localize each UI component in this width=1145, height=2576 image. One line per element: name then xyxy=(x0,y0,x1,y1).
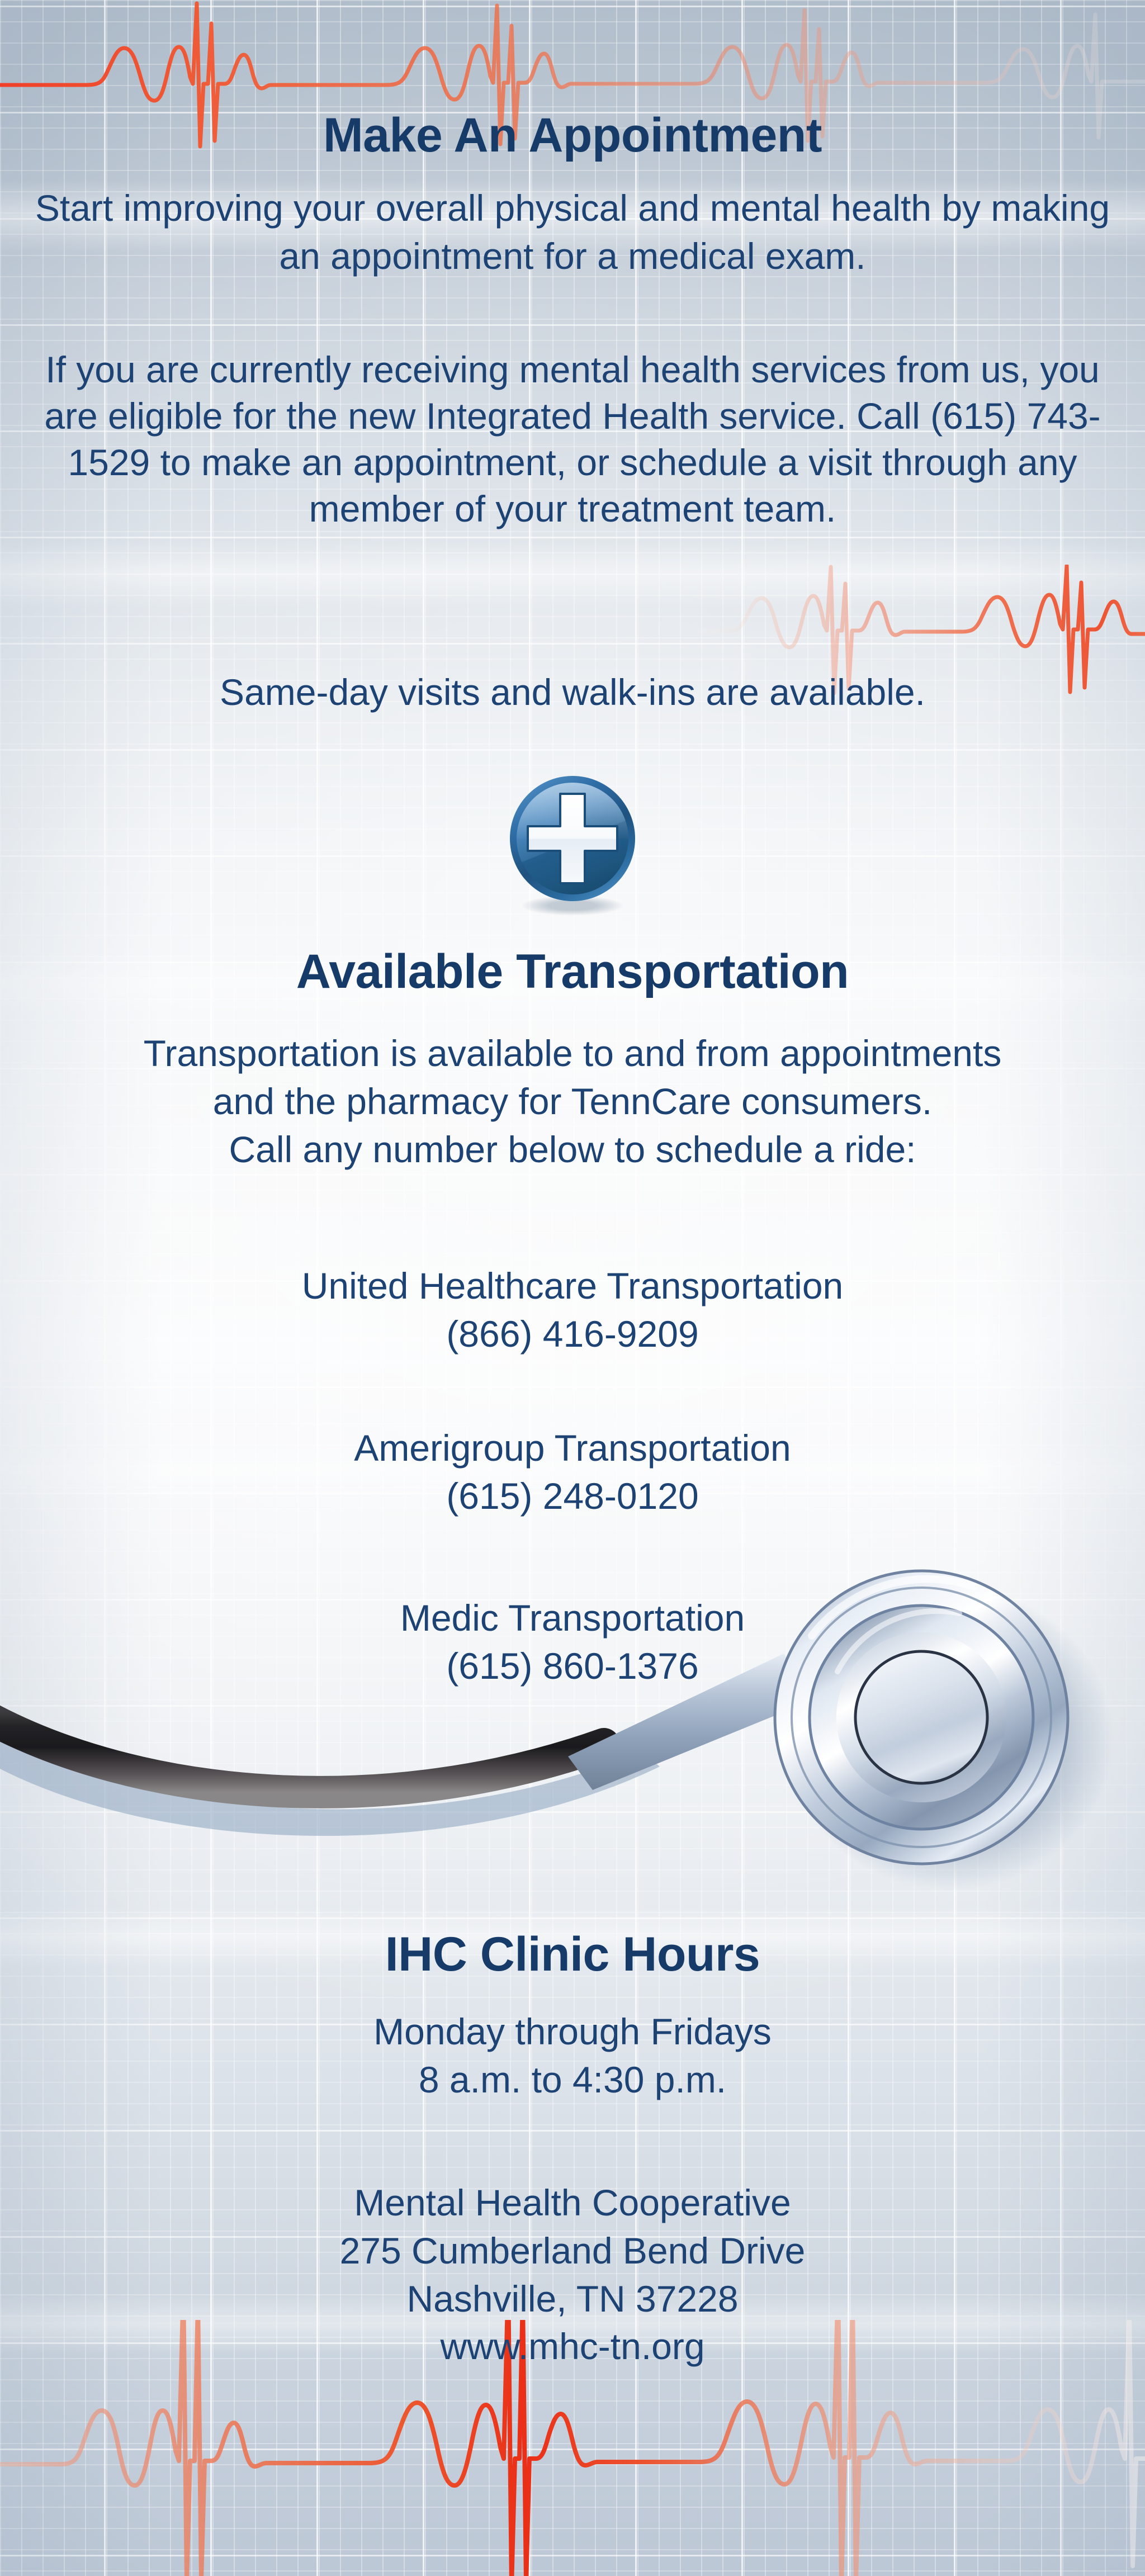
appointment-paragraph-2: If you are currently receiving mental he… xyxy=(17,347,1128,533)
clinic-hours-times: 8 a.m. to 4:30 p.m. xyxy=(16,2056,1129,2104)
provider-name: United Healthcare Transportation xyxy=(16,1262,1129,1310)
panel-content: Make An Appointment Start improving your… xyxy=(0,0,1145,2576)
provider-phone[interactable]: (866) 416-9209 xyxy=(16,1310,1129,1358)
clinic-hours-days: Monday through Fridays xyxy=(16,2008,1129,2056)
transportation-intro-line-3: Call any number below to schedule a ride… xyxy=(15,1126,1130,1174)
medical-cross-icon xyxy=(504,773,641,919)
footer-street: 275 Cumberland Bend Drive xyxy=(16,2227,1129,2275)
provider-phone[interactable]: (615) 248-0120 xyxy=(16,1472,1129,1521)
provider-name: Amerigroup Transportation xyxy=(16,1424,1129,1472)
transportation-intro-line-2: and the pharmacy for TennCare consumers. xyxy=(15,1078,1130,1126)
transportation-heading: Available Transportation xyxy=(16,946,1129,998)
brochure-panel: Make An Appointment Start improving your… xyxy=(0,0,1145,2576)
transportation-intro-line-1: Transportation is available to and from … xyxy=(15,1030,1130,1078)
provider-phone[interactable]: (615) 860-1376 xyxy=(16,1642,1129,1690)
footer-city-state-zip: Nashville, TN 37228 xyxy=(16,2275,1129,2323)
footer-website[interactable]: www.mhc-tn.org xyxy=(16,2323,1129,2371)
clinic-hours-heading: IHC Clinic Hours xyxy=(16,1929,1129,1981)
appointment-paragraph-1: Start improving your overall physical an… xyxy=(26,184,1119,281)
provider-name: Medic Transportation xyxy=(16,1594,1129,1642)
appointment-heading: Make An Appointment xyxy=(16,110,1129,162)
appointment-paragraph-3: Same-day visits and walk-ins are availab… xyxy=(26,669,1119,717)
footer-organization: Mental Health Cooperative xyxy=(16,2179,1129,2227)
